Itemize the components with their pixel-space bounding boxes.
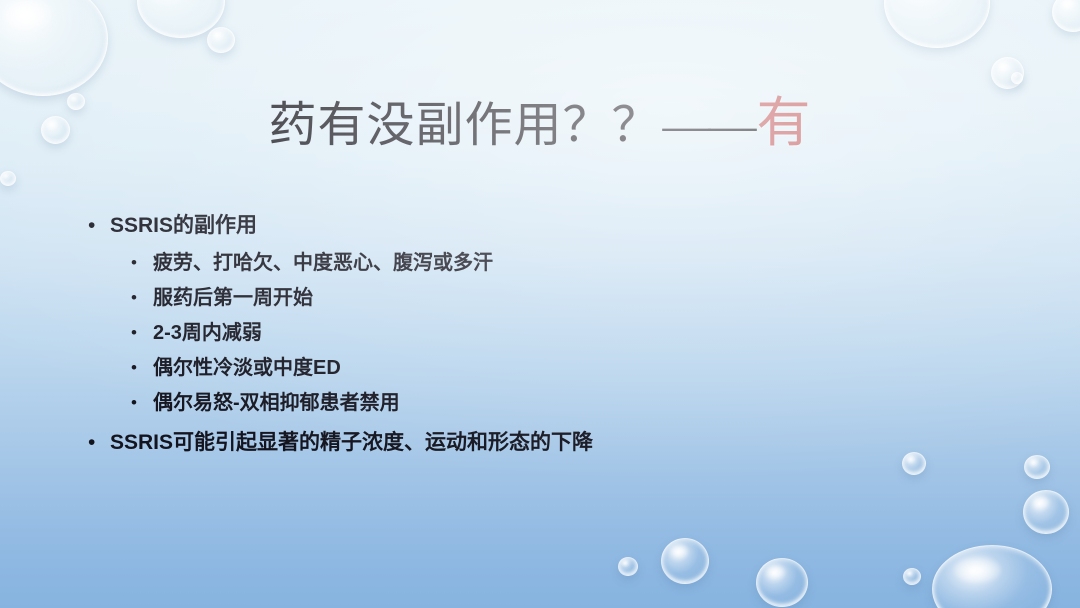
bullet-marker-icon: • bbox=[131, 353, 153, 383]
slide-body-list: • SSRIS的副作用 • 疲劳、打哈欠、中度恶心、腹泻或多汗 • 服药后第一周… bbox=[88, 212, 988, 465]
droplet-icon bbox=[756, 558, 808, 607]
bullet-marker-icon: • bbox=[88, 429, 110, 457]
list-item: • 偶尔性冷淡或中度ED bbox=[131, 353, 988, 388]
title-accent-text: 有 bbox=[757, 93, 812, 153]
list-item: • SSRIS可能引起显著的精子浓度、运动和形态的下降 bbox=[88, 429, 988, 465]
bullet-marker-icon: • bbox=[131, 388, 153, 418]
bullet-marker-icon: • bbox=[131, 248, 153, 278]
list-item: • 2-3周内减弱 bbox=[131, 318, 988, 353]
list-item-label: SSRIS可能引起显著的精子浓度、运动和形态的下降 bbox=[110, 429, 593, 457]
bullet-marker-icon: • bbox=[131, 283, 153, 313]
list-item-label: SSRIS的副作用 bbox=[110, 212, 257, 240]
title-main-text: 药有没副作用？？ bbox=[268, 99, 660, 152]
droplet-icon bbox=[1052, 0, 1080, 32]
droplet-icon bbox=[1024, 455, 1050, 479]
list-item-label: 疲劳、打哈欠、中度恶心、腹泻或多汗 bbox=[153, 248, 493, 278]
droplet-icon bbox=[0, 171, 16, 186]
droplet-icon bbox=[618, 557, 638, 576]
list-item-label: 偶尔性冷淡或中度ED bbox=[153, 353, 341, 383]
list-item-label: 2-3周内减弱 bbox=[153, 318, 262, 348]
droplet-icon bbox=[137, 0, 225, 38]
droplet-icon bbox=[932, 545, 1052, 608]
list-item: • 疲劳、打哈欠、中度恶心、腹泻或多汗 bbox=[131, 248, 988, 283]
slide-title: 药有没副作用？？——有 bbox=[0, 78, 1080, 157]
bullet-marker-icon: • bbox=[131, 318, 153, 348]
bullet-marker-icon: • bbox=[88, 212, 110, 240]
list-item-label: 偶尔易怒-双相抑郁患者禁用 bbox=[153, 388, 400, 418]
droplet-icon bbox=[1023, 490, 1069, 534]
droplet-icon bbox=[884, 0, 990, 48]
title-dash: —— bbox=[661, 99, 757, 152]
droplet-icon bbox=[207, 27, 235, 53]
droplet-icon bbox=[661, 538, 709, 584]
list-item: • 服药后第一周开始 bbox=[131, 283, 988, 318]
list-item: • SSRIS的副作用 bbox=[88, 212, 988, 248]
list-item-label: 服药后第一周开始 bbox=[153, 283, 313, 313]
droplet-icon bbox=[903, 568, 921, 585]
list-item: • 偶尔易怒-双相抑郁患者禁用 bbox=[131, 388, 988, 423]
presentation-slide: 药有没副作用？？——有 • SSRIS的副作用 • 疲劳、打哈欠、中度恶心、腹泻… bbox=[0, 0, 1080, 608]
